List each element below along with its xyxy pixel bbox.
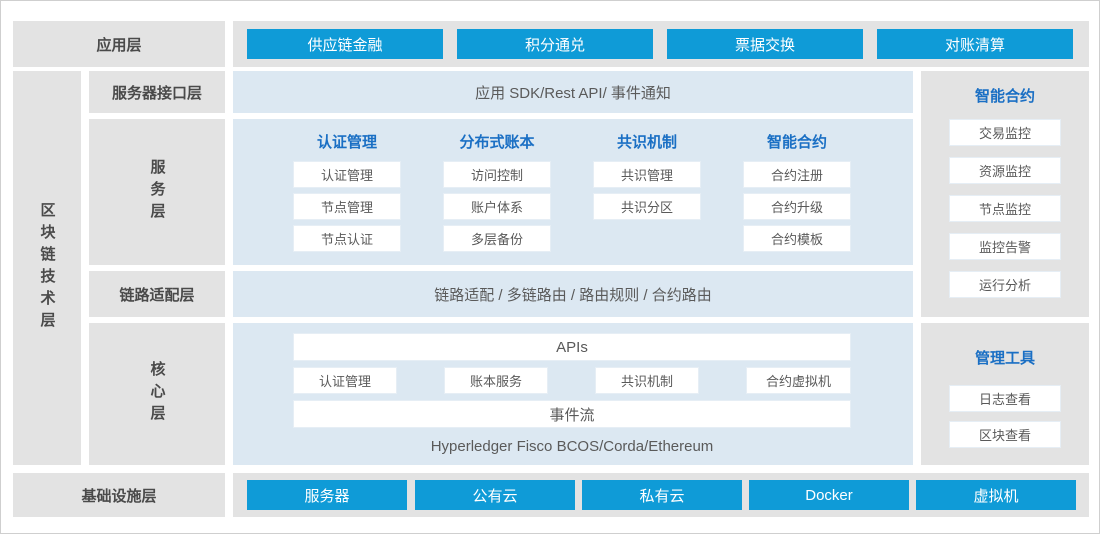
- service-item-2-0[interactable]: 共识管理: [593, 161, 701, 188]
- service-item-0-0[interactable]: 认证管理: [293, 161, 401, 188]
- side-panel-0-item-4[interactable]: 运行分析: [949, 271, 1061, 298]
- core-module-2[interactable]: 共识机制: [595, 367, 699, 394]
- service-item-0-2[interactable]: 节点认证: [293, 225, 401, 252]
- side-panel-1-item-1[interactable]: 区块查看: [949, 421, 1061, 448]
- application-item-1[interactable]: 积分通兑: [457, 29, 653, 59]
- service-column-title-1: 分布式账本: [443, 129, 551, 153]
- application-item-3[interactable]: 对账清算: [877, 29, 1073, 59]
- service-column-title-2: 共识机制: [593, 129, 701, 153]
- application-item-0[interactable]: 供应链金融: [247, 29, 443, 59]
- core-layer-label: 核心层: [89, 323, 225, 465]
- infrastructure-layer-label: 基础设施层: [13, 473, 225, 517]
- link-adaptation-layer-content: 链路适配 / 多链路由 / 路由规则 / 合约路由: [233, 271, 913, 317]
- service-item-1-2[interactable]: 多层备份: [443, 225, 551, 252]
- core-apis-box[interactable]: APIs: [293, 333, 851, 361]
- service-column-title-0: 认证管理: [293, 129, 401, 153]
- side-panel-0-title: 智能合约: [921, 83, 1089, 107]
- infrastructure-item-4[interactable]: 虚拟机: [916, 480, 1076, 510]
- application-item-2[interactable]: 票据交换: [667, 29, 863, 59]
- service-item-1-1[interactable]: 账户体系: [443, 193, 551, 220]
- server-interface-layer-label: 服务器接口层: [89, 71, 225, 113]
- infrastructure-item-0[interactable]: 服务器: [247, 480, 407, 510]
- side-panel-0-item-3[interactable]: 监控告警: [949, 233, 1061, 260]
- service-column-title-3: 智能合约: [743, 129, 851, 153]
- service-item-3-1[interactable]: 合约升级: [743, 193, 851, 220]
- side-panel-0-item-2[interactable]: 节点监控: [949, 195, 1061, 222]
- side-panel-1-item-0[interactable]: 日志查看: [949, 385, 1061, 412]
- core-platforms-text: Hyperledger Fisco BCOS/Corda/Ethereum: [293, 433, 851, 459]
- side-panel-0-item-1[interactable]: 资源监控: [949, 157, 1061, 184]
- server-interface-layer-content: 应用 SDK/Rest API/ 事件通知: [233, 71, 913, 113]
- side-panel-1-title: 管理工具: [921, 345, 1089, 369]
- application-layer-label: 应用层: [13, 21, 225, 67]
- core-event-stream-box[interactable]: 事件流: [293, 400, 851, 428]
- infrastructure-item-1[interactable]: 公有云: [415, 480, 575, 510]
- service-item-3-0[interactable]: 合约注册: [743, 161, 851, 188]
- service-layer-label: 服务层: [89, 119, 225, 265]
- infrastructure-item-2[interactable]: 私有云: [582, 480, 742, 510]
- service-item-1-0[interactable]: 访问控制: [443, 161, 551, 188]
- core-module-0[interactable]: 认证管理: [293, 367, 397, 394]
- blockchain-tech-layer-label: 区块链技术层: [13, 71, 81, 465]
- service-item-0-1[interactable]: 节点管理: [293, 193, 401, 220]
- link-adaptation-layer-label: 链路适配层: [89, 271, 225, 317]
- architecture-diagram: 应用层 供应链金融 积分通兑 票据交换 对账清算 区块链技术层 服务器接口层 应…: [0, 0, 1100, 534]
- core-module-1[interactable]: 账本服务: [444, 367, 548, 394]
- service-item-3-2[interactable]: 合约模板: [743, 225, 851, 252]
- core-module-3[interactable]: 合约虚拟机: [746, 367, 851, 394]
- infrastructure-item-3[interactable]: Docker: [749, 480, 909, 510]
- side-panel-0-item-0[interactable]: 交易监控: [949, 119, 1061, 146]
- service-item-2-1[interactable]: 共识分区: [593, 193, 701, 220]
